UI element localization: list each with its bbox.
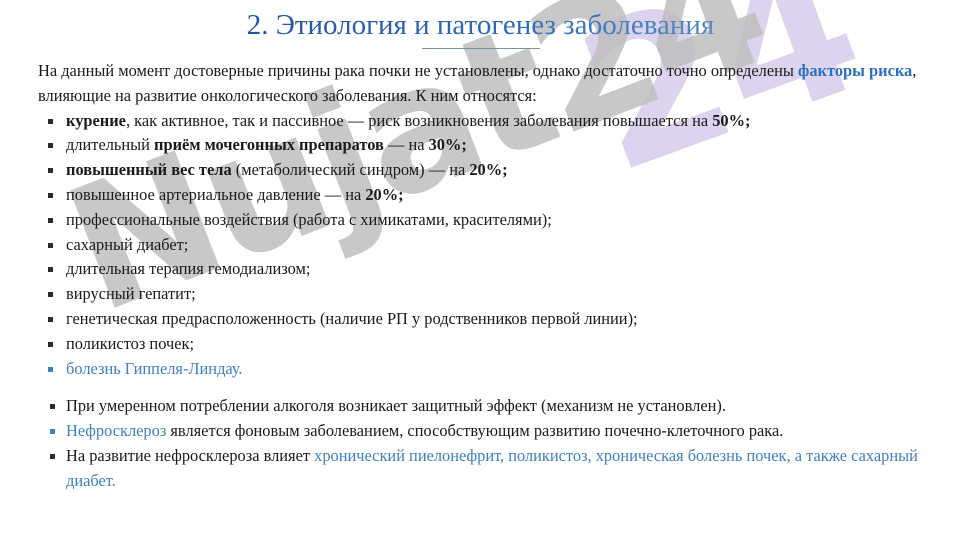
notes-list: При умеренном потреблении алкоголя возни… [38, 394, 933, 493]
item-bold-value: 30%; [429, 135, 467, 154]
list-item-vhl: болезнь Гиппеля-Линдау. [38, 357, 933, 382]
item-text: поликистоз почек; [66, 334, 194, 353]
item-text: длительная терапия гемодиализом; [66, 259, 310, 278]
item-bold-lead: курение [66, 111, 126, 130]
note-item-alcohol: При умеренном потреблении алкоголя возни… [38, 394, 933, 419]
item-bold-value: 50%; [712, 111, 750, 130]
intro-paragraph: На данный момент достоверные причины рак… [38, 59, 933, 109]
slide-content: 2. Этиология и патогенез заболевания На … [0, 0, 961, 494]
slide-body: На данный момент достоверные причины рак… [0, 59, 961, 494]
note-text: является фоновым заболеванием, способств… [166, 421, 783, 440]
intro-highlight: факторы риска [798, 61, 912, 80]
note-lead-blue: Нефросклероз [66, 421, 166, 440]
spacer [38, 381, 933, 394]
list-item: повышенный вес тела (метаболический синд… [38, 158, 933, 183]
list-item: профессиональные воздействия (работа с х… [38, 208, 933, 233]
item-text-lead: длительный [66, 135, 154, 154]
title-divider [422, 48, 540, 49]
item-text-lead: повышенное артериальное давление — на [66, 185, 365, 204]
list-item: сахарный диабет; [38, 233, 933, 258]
item-text: сахарный диабет; [66, 235, 188, 254]
item-bold-lead: приём мочегонных препаратов [154, 135, 384, 154]
list-item: вирусный гепатит; [38, 282, 933, 307]
list-item: длительный приём мочегонных препаратов —… [38, 133, 933, 158]
list-item: генетическая предрасположенность (наличи… [38, 307, 933, 332]
item-bold-value: 20%; [365, 185, 403, 204]
slide: 24 Nujat24 2. Этиология и патогенез забо… [0, 0, 961, 540]
note-item-causes: На развитие нефросклероза влияет хрониче… [38, 444, 933, 494]
item-text: болезнь Гиппеля-Линдау. [66, 359, 243, 378]
list-item: курение, как активное, так и пассивное —… [38, 109, 933, 134]
item-bold-value: 20%; [469, 160, 507, 179]
note-item-nephrosclerosis: Нефросклероз является фоновым заболевани… [38, 419, 933, 444]
list-item: поликистоз почек; [38, 332, 933, 357]
item-text: (метаболический синдром) — на [232, 160, 470, 179]
note-text: При умеренном потреблении алкоголя возни… [66, 396, 726, 415]
page-title: 2. Этиология и патогенез заболевания [0, 0, 961, 42]
item-text: профессиональные воздействия (работа с х… [66, 210, 552, 229]
item-text: , как активное, так и пассивное — риск в… [126, 111, 712, 130]
list-item: повышенное артериальное давление — на 20… [38, 183, 933, 208]
item-text: генетическая предрасположенность (наличи… [66, 309, 638, 328]
intro-part1: На данный момент достоверные причины рак… [38, 61, 798, 80]
item-text: — на [384, 135, 429, 154]
list-item: длительная терапия гемодиализом; [38, 257, 933, 282]
note-text: На развитие нефросклероза влияет [66, 446, 314, 465]
item-bold-lead: повышенный вес тела [66, 160, 232, 179]
item-text: вирусный гепатит; [66, 284, 196, 303]
risk-factors-list: курение, как активное, так и пассивное —… [38, 109, 933, 382]
